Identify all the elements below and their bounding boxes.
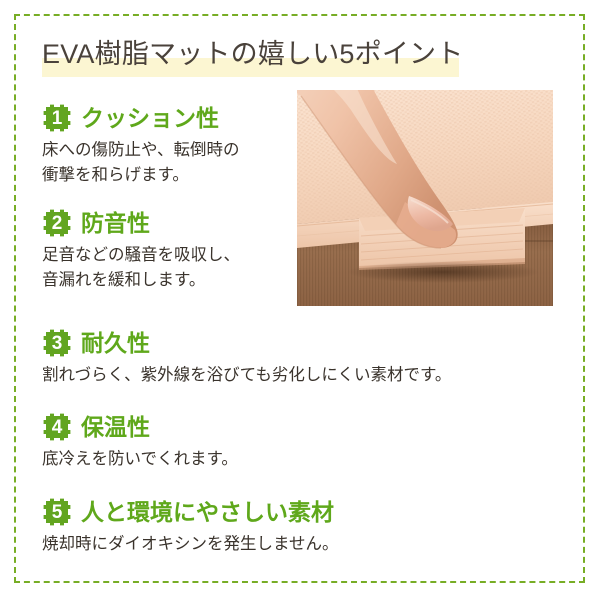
info-card: EVA樹脂マットの嬉しい5ポイント — [14, 14, 585, 583]
number-badge-3-label: 3 — [42, 328, 72, 358]
point-2-body: 足音などの騒音を吸収し、 音漏れを緩和します。 — [42, 243, 240, 293]
point-item-3: 3 耐久性 割れづらく、紫外線を浴びても劣化しにくい素材です。 — [42, 327, 451, 388]
point-3-heading: 耐久性 — [81, 328, 150, 358]
point-item-2: 2 防音性 足音などの騒音を吸収し、 音漏れを緩和します。 — [42, 207, 240, 293]
page-title-text: EVA樹脂マットの嬉しい5ポイント — [42, 34, 463, 74]
number-badge-1-label: 1 — [42, 103, 72, 133]
eva-mat-finger-press-illustration — [297, 90, 553, 306]
point-5-body: 焼却時にダイオキシンを発生しません。 — [42, 532, 339, 557]
point-item-1: 1 クッション性 床への傷防止や、転倒時の 衝撃を和らげます。 — [42, 102, 240, 188]
number-badge-2-label: 2 — [42, 208, 72, 238]
point-5-heading: 人と環境にやさしい素材 — [81, 497, 334, 527]
point-4-body: 底冷えを防いでくれます。 — [42, 447, 238, 472]
product-photo — [297, 90, 553, 306]
point-4-heading: 保温性 — [81, 412, 150, 442]
point-item-4: 4 保温性 底冷えを防いでくれます。 — [42, 411, 238, 472]
point-item-5: 5 人と環境にやさしい素材 焼却時にダイオキシンを発生しません。 — [42, 496, 339, 557]
point-5-heading-row: 5 人と環境にやさしい素材 — [42, 496, 339, 528]
point-4-heading-row: 4 保温性 — [42, 411, 238, 443]
number-badge-4-label: 4 — [42, 412, 72, 442]
number-badge-4-icon: 4 — [42, 412, 72, 442]
page-title: EVA樹脂マットの嬉しい5ポイント — [42, 34, 463, 78]
point-2-heading: 防音性 — [81, 208, 150, 238]
number-badge-5-label: 5 — [42, 497, 72, 527]
point-2-heading-row: 2 防音性 — [42, 207, 240, 239]
number-badge-3-icon: 3 — [42, 328, 72, 358]
point-1-heading: クッション性 — [81, 103, 219, 133]
number-badge-5-icon: 5 — [42, 497, 72, 527]
point-3-body: 割れづらく、紫外線を浴びても劣化しにくい素材です。 — [42, 363, 451, 388]
point-1-body: 床への傷防止や、転倒時の 衝撃を和らげます。 — [42, 138, 240, 188]
number-badge-1-icon: 1 — [42, 103, 72, 133]
point-1-heading-row: 1 クッション性 — [42, 102, 240, 134]
point-3-heading-row: 3 耐久性 — [42, 327, 451, 359]
number-badge-2-icon: 2 — [42, 208, 72, 238]
